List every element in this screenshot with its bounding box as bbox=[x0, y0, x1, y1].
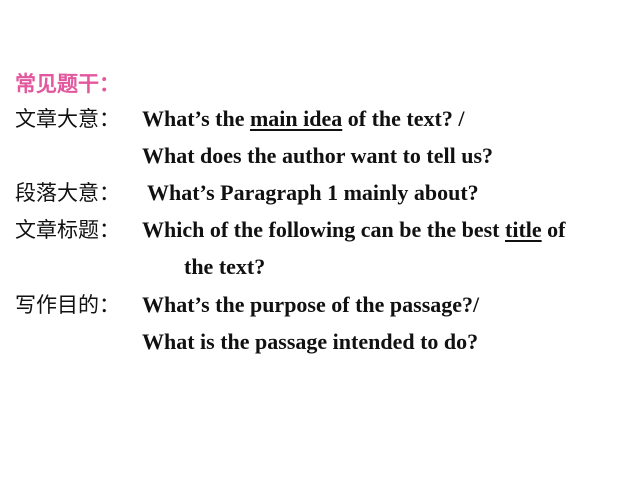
stem-text-segment: What’s Paragraph 1 mainly about? bbox=[147, 180, 479, 205]
question-stem-text: What is the passage intended to do? bbox=[142, 325, 478, 359]
question-stem-text: Which of the following can be the best t… bbox=[142, 213, 565, 247]
question-stem-text: What’s the main idea of the text? / bbox=[142, 102, 464, 136]
stem-text-segment: of the text? / bbox=[342, 106, 464, 131]
question-stem-line: What does the author want to tell us? bbox=[0, 139, 640, 176]
stem-text-segment: What’s the bbox=[142, 106, 250, 131]
question-stem-line: the text? bbox=[0, 250, 640, 287]
question-stem-line: 段落大意：What’s Paragraph 1 mainly about? bbox=[0, 176, 640, 213]
stem-text-segment: What does the author want to tell us? bbox=[142, 143, 493, 168]
stem-text-segment: What is the passage intended to do? bbox=[142, 329, 478, 354]
stem-text-segment: the text? bbox=[184, 254, 265, 279]
question-stem-line: 写作目的：What’s the purpose of the passage?/ bbox=[0, 288, 640, 325]
slide-canvas: 常见题干： 文章大意：What’s the main idea of the t… bbox=[0, 0, 640, 480]
emphasized-keyword: main idea bbox=[250, 106, 342, 131]
question-stem-text: What’s Paragraph 1 mainly about? bbox=[147, 176, 479, 210]
question-stem-text: What does the author want to tell us? bbox=[142, 139, 493, 173]
question-type-label: 文章大意： bbox=[15, 102, 143, 136]
stem-text-segment: What’s the purpose of the passage?/ bbox=[142, 292, 479, 317]
question-type-label: 文章标题： bbox=[15, 213, 143, 247]
question-type-label: 段落大意： bbox=[15, 176, 143, 210]
question-stem-text: What’s the purpose of the passage?/ bbox=[142, 288, 479, 322]
question-stem-text: the text? bbox=[184, 250, 265, 284]
question-stem-line: 文章大意：What’s the main idea of the text? / bbox=[0, 102, 640, 139]
stem-text-segment: of bbox=[542, 217, 566, 242]
section-heading: 常见题干： bbox=[15, 72, 120, 96]
question-type-label: 写作目的： bbox=[15, 288, 143, 322]
stem-text-segment: Which of the following can be the best bbox=[142, 217, 505, 242]
question-stem-line: 文章标题：Which of the following can be the b… bbox=[0, 213, 640, 250]
question-stem-line: What is the passage intended to do? bbox=[0, 325, 640, 362]
emphasized-keyword: title bbox=[505, 217, 542, 242]
